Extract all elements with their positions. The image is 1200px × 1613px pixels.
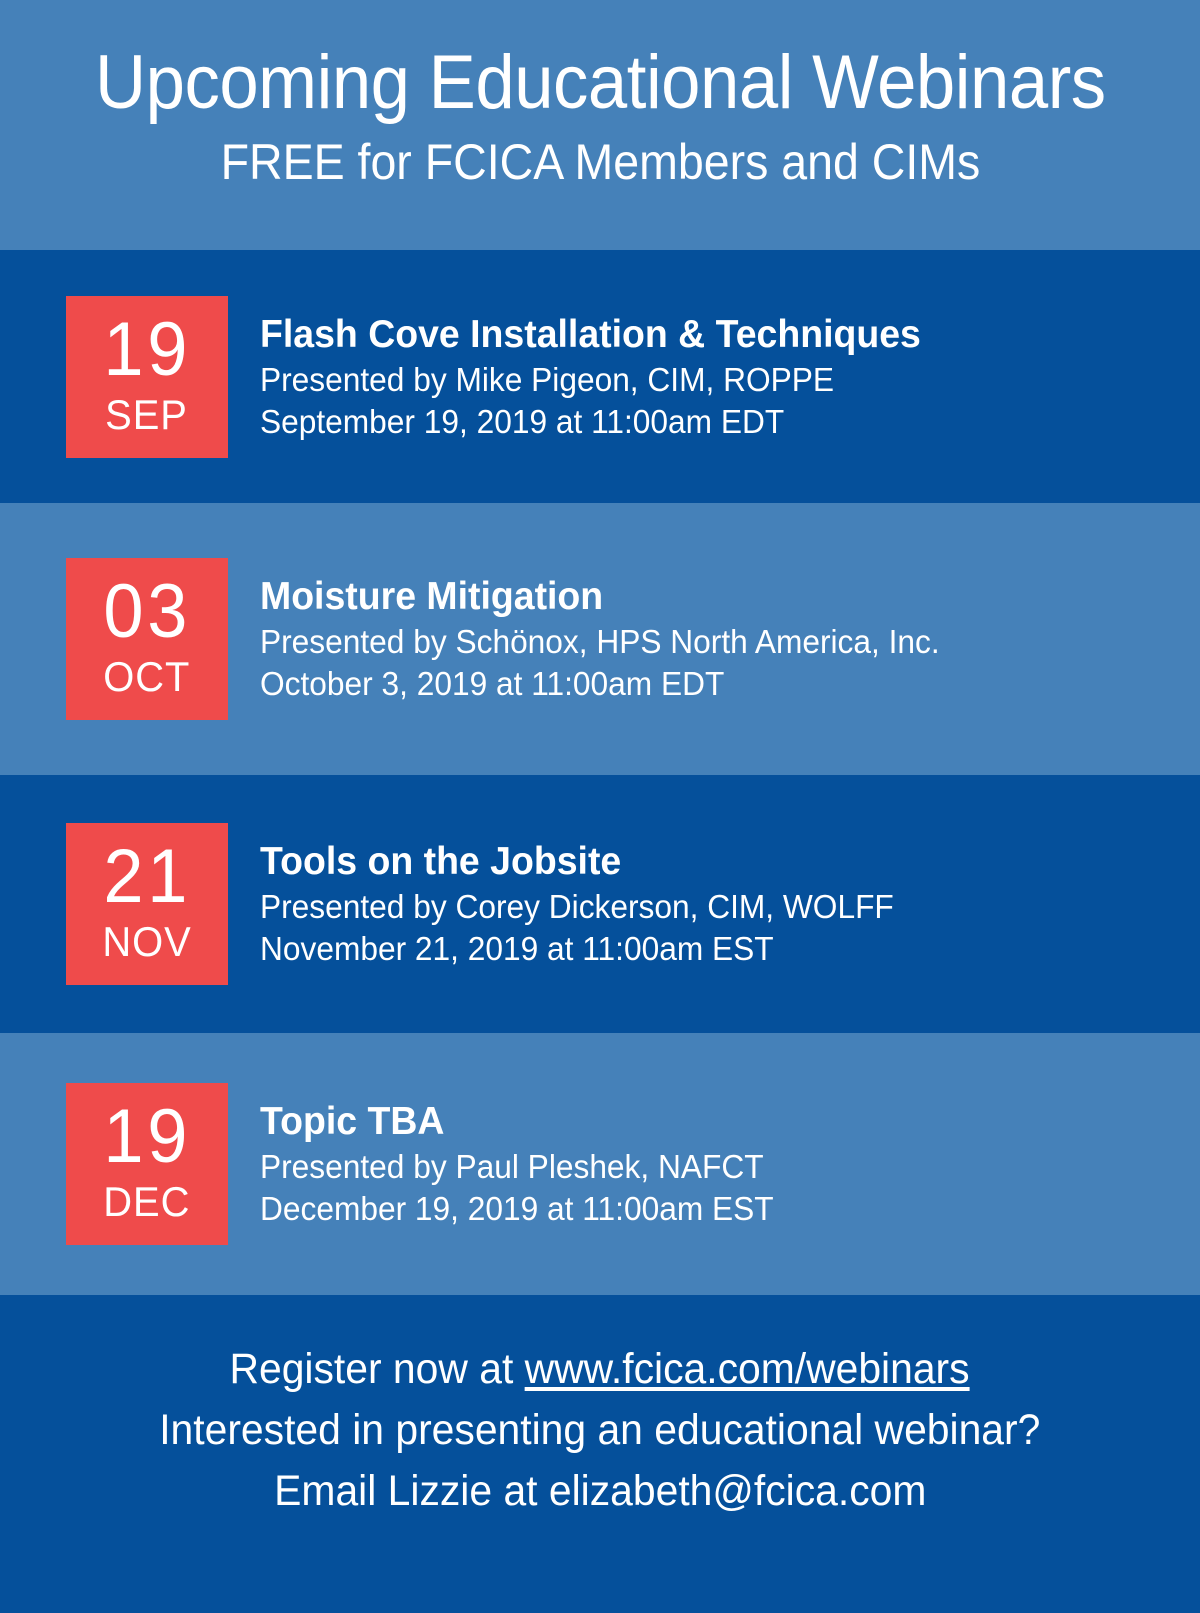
register-prefix: Register now at — [230, 1345, 525, 1393]
date-badge: 03 OCT — [66, 558, 228, 720]
webinar-datetime: December 19, 2019 at 11:00am EST — [260, 1188, 774, 1230]
poster-footer: Register now at www.fcica.com/webinars I… — [0, 1295, 1200, 1613]
webinar-details: Tools on the Jobsite Presented by Corey … — [260, 838, 920, 970]
webinar-details: Moisture Mitigation Presented by Schönox… — [260, 573, 968, 705]
email-line: Email Lizzie at elizabeth@fcica.com — [274, 1461, 926, 1522]
date-badge: 19 DEC — [66, 1083, 228, 1245]
interested-line: Interested in presenting an educational … — [159, 1400, 1040, 1461]
poster-header: Upcoming Educational Webinars FREE for F… — [0, 0, 1200, 250]
register-line: Register now at www.fcica.com/webinars — [230, 1339, 970, 1400]
page-subtitle: FREE for FCICA Members and CIMs — [220, 134, 980, 190]
webinar-title: Tools on the Jobsite — [260, 838, 894, 886]
webinar-poster: Upcoming Educational Webinars FREE for F… — [0, 0, 1200, 1613]
date-day: 03 — [103, 574, 191, 650]
webinar-details: Topic TBA Presented by Paul Pleshek, NAF… — [260, 1098, 795, 1230]
date-month: OCT — [103, 654, 190, 700]
webinar-row[interactable]: 19 SEP Flash Cove Installation & Techniq… — [0, 250, 1200, 503]
webinar-list: 19 SEP Flash Cove Installation & Techniq… — [0, 250, 1200, 1295]
webinar-datetime: October 3, 2019 at 11:00am EDT — [260, 663, 940, 705]
webinar-datetime: September 19, 2019 at 11:00am EDT — [260, 401, 921, 443]
date-badge: 19 SEP — [66, 296, 228, 458]
webinar-row[interactable]: 03 OCT Moisture Mitigation Presented by … — [0, 503, 1200, 775]
webinar-presenter: Presented by Schönox, HPS North America,… — [260, 621, 940, 663]
webinar-datetime: November 21, 2019 at 11:00am EST — [260, 928, 894, 970]
webinar-presenter: Presented by Corey Dickerson, CIM, WOLFF — [260, 886, 894, 928]
date-day: 21 — [103, 839, 191, 915]
webinar-presenter: Presented by Paul Pleshek, NAFCT — [260, 1146, 774, 1188]
date-month: DEC — [103, 1179, 190, 1225]
page-title: Upcoming Educational Webinars — [95, 42, 1106, 124]
date-month: NOV — [102, 919, 191, 965]
date-day: 19 — [103, 312, 191, 388]
webinar-details: Flash Cove Installation & Techniques Pre… — [260, 311, 948, 443]
webinar-presenter: Presented by Mike Pigeon, CIM, ROPPE — [260, 359, 921, 401]
register-url-link[interactable]: www.fcica.com/webinars — [525, 1345, 970, 1393]
webinar-title: Flash Cove Installation & Techniques — [260, 311, 921, 359]
webinar-row[interactable]: 19 DEC Topic TBA Presented by Paul Plesh… — [0, 1033, 1200, 1295]
date-month: SEP — [106, 392, 189, 438]
date-badge: 21 NOV — [66, 823, 228, 985]
date-day: 19 — [103, 1099, 191, 1175]
webinar-title: Topic TBA — [260, 1098, 774, 1146]
webinar-row[interactable]: 21 NOV Tools on the Jobsite Presented by… — [0, 775, 1200, 1033]
webinar-title: Moisture Mitigation — [260, 573, 940, 621]
